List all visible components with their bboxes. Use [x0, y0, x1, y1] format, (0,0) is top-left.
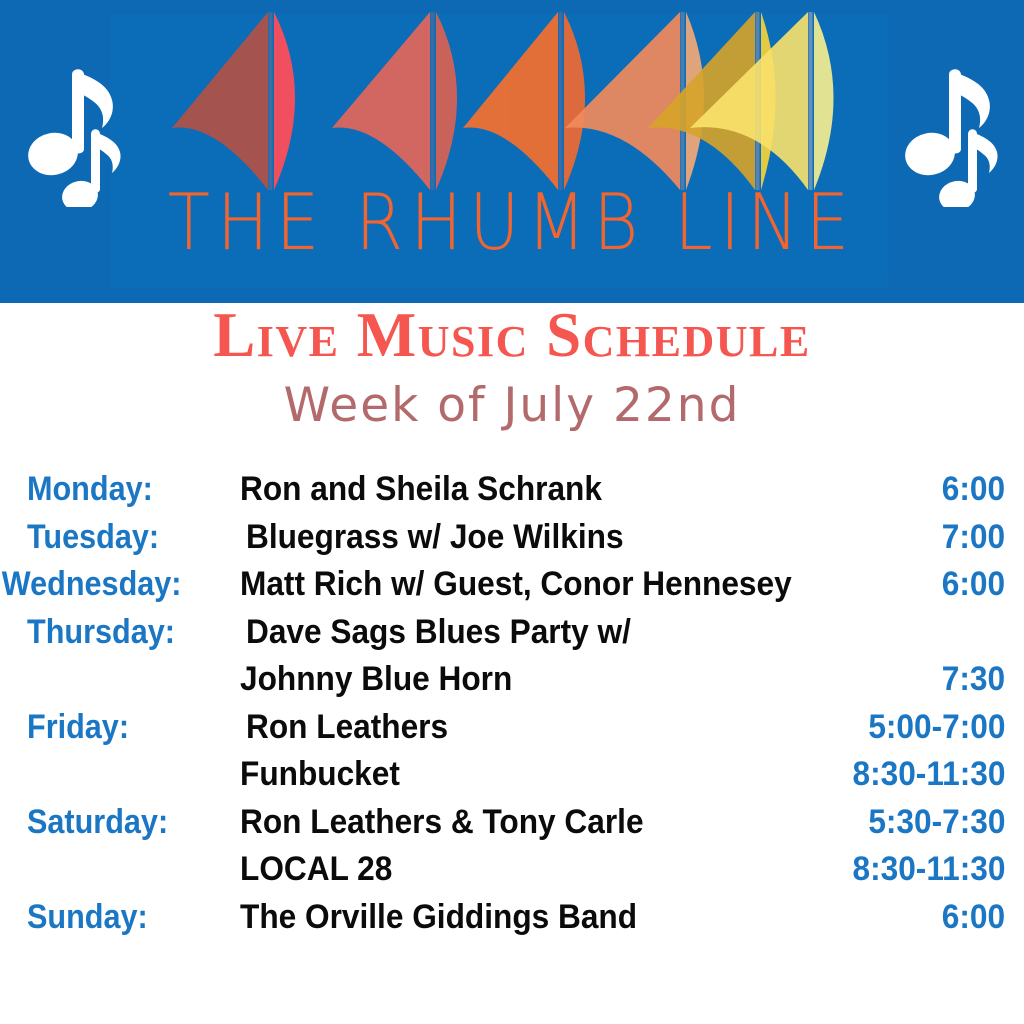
schedule-row: Johnny Blue Horn 7:30 — [0, 656, 1024, 704]
schedule-day-label: Friday: — [0, 704, 185, 752]
schedule-day-label: Wednesday: — [0, 561, 185, 609]
schedule-act-label: Dave Sags Blues Party w/ — [246, 609, 631, 657]
schedule-row: Saturday: Ron Leathers & Tony Carle 5:30… — [0, 799, 1024, 847]
schedule-time-label: 6:00 — [942, 466, 1005, 514]
schedule-act-label: LOCAL 28 — [240, 846, 392, 894]
schedule-act-label: Funbucket — [240, 751, 400, 799]
schedule-act-label: Johnny Blue Horn — [240, 656, 512, 704]
schedule-act-label: Bluegrass w/ Joe Wilkins — [246, 514, 624, 562]
schedule-act-label: Ron Leathers & Tony Carle — [240, 799, 644, 847]
page-title: Live Music Schedule — [0, 300, 1024, 371]
schedule-row: Monday: Ron and Sheila Schrank 6:00 — [0, 466, 1024, 514]
schedule-time-label: 6:00 — [942, 561, 1005, 609]
schedule-time-label: 5:00-7:00 — [868, 704, 1005, 752]
brand-wordmark-wrap: THE RHUMB LINE — [0, 185, 1024, 254]
schedule-day-label: Thursday: — [0, 609, 185, 657]
header-banner: THE RHUMB LINE — [0, 0, 1024, 303]
schedule-act-label: Matt Rich w/ Guest, Conor Hennesey — [240, 561, 792, 609]
schedule-row: LOCAL 28 8:30-11:30 — [0, 846, 1024, 894]
schedule-time-label: 6:00 — [942, 894, 1005, 942]
schedule-list: Monday: Ron and Sheila Schrank 6:00 Tues… — [0, 466, 1024, 941]
schedule-day-label: Saturday: — [0, 799, 185, 847]
schedule-time-label: 8:30-11:30 — [852, 846, 1005, 894]
schedule-day-label: Sunday: — [0, 894, 185, 942]
schedule-time-label: 5:30-7:30 — [868, 799, 1005, 847]
brand-wordmark: THE RHUMB LINE — [168, 185, 857, 262]
schedule-act-label: The Orville Giddings Band — [240, 894, 637, 942]
schedule-act-label: Ron and Sheila Schrank — [240, 466, 602, 514]
schedule-row: Friday: Ron Leathers 5:00-7:00 — [0, 704, 1024, 752]
schedule-time-label: 7:00 — [942, 514, 1005, 562]
page-subtitle: Week of July 22nd — [0, 382, 1024, 429]
schedule-row: Tuesday: Bluegrass w/ Joe Wilkins 7:00 — [0, 514, 1024, 562]
schedule-time-label: 7:30 — [942, 656, 1005, 704]
schedule-row: Sunday: The Orville Giddings Band 6:00 — [0, 894, 1024, 942]
schedule-time-label: 8:30-11:30 — [852, 751, 1005, 799]
headline-wrap: Live Music Schedule — [0, 300, 1024, 371]
schedule-day-label: Monday: — [0, 466, 185, 514]
schedule-day-label: Tuesday: — [0, 514, 185, 562]
subtitle-wrap: Week of July 22nd — [0, 382, 1024, 429]
schedule-row: Funbucket 8:30-11:30 — [0, 751, 1024, 799]
schedule-act-label: Ron Leathers — [246, 704, 448, 752]
schedule-row: Thursday: Dave Sags Blues Party w/ — [0, 609, 1024, 657]
schedule-row: Wednesday: Matt Rich w/ Guest, Conor Hen… — [0, 561, 1024, 609]
